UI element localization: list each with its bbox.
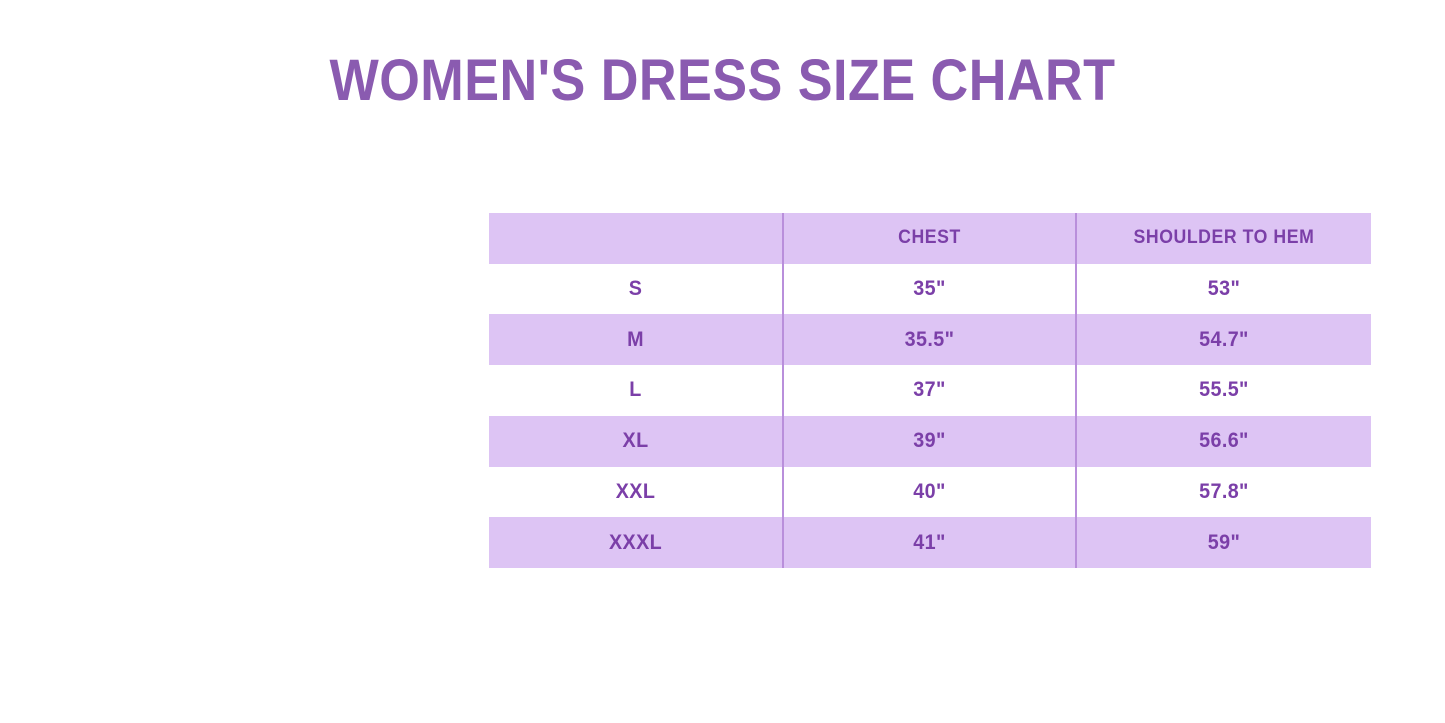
cell-chest: 41" — [792, 517, 1067, 568]
cell-chest: 35" — [792, 264, 1067, 315]
table-header: CHEST SHOULDER TO HEM — [489, 213, 1371, 264]
table-row: M 35.5" 54.7" — [489, 314, 1371, 365]
cell-size: XL — [498, 416, 774, 467]
cell-chest: 35.5" — [792, 314, 1067, 365]
cell-shoulder-to-hem: 56.6" — [1085, 416, 1362, 467]
cell-chest: 37" — [792, 365, 1067, 416]
cell-size: L — [498, 365, 774, 416]
cell-shoulder-to-hem: 53" — [1085, 264, 1362, 315]
table-row: XXL 40" 57.8" — [489, 467, 1371, 518]
table-row: XL 39" 56.6" — [489, 416, 1371, 467]
cell-size: S — [498, 264, 774, 315]
cell-chest: 39" — [792, 416, 1067, 467]
cell-size: M — [498, 314, 774, 365]
column-header-shoulder-to-hem: SHOULDER TO HEM — [1086, 213, 1360, 264]
column-header-chest: CHEST — [793, 213, 1065, 264]
cell-shoulder-to-hem: 55.5" — [1085, 365, 1362, 416]
cell-size: XXXL — [498, 517, 774, 568]
cell-shoulder-to-hem: 54.7" — [1085, 314, 1362, 365]
table-row: S 35" 53" — [489, 264, 1371, 315]
cell-chest: 40" — [792, 467, 1067, 518]
size-chart-table: CHEST SHOULDER TO HEM S 35" 53" M 35.5" … — [489, 213, 1371, 568]
column-header-size — [499, 213, 772, 264]
size-chart-table-wrapper: CHEST SHOULDER TO HEM S 35" 53" M 35.5" … — [489, 213, 1371, 568]
cell-shoulder-to-hem: 57.8" — [1085, 467, 1362, 518]
table-row: XXXL 41" 59" — [489, 517, 1371, 568]
size-chart-page: WOMEN'S DRESS SIZE CHART CHEST SHOULDER … — [0, 0, 1445, 723]
page-title: WOMEN'S DRESS SIZE CHART — [72, 52, 1373, 110]
table-row: L 37" 55.5" — [489, 365, 1371, 416]
cell-size: XXL — [498, 467, 774, 518]
table-header-row: CHEST SHOULDER TO HEM — [489, 213, 1371, 264]
table-body: S 35" 53" M 35.5" 54.7" L 37" 55.5" XL 3… — [489, 264, 1371, 568]
cell-shoulder-to-hem: 59" — [1085, 517, 1362, 568]
